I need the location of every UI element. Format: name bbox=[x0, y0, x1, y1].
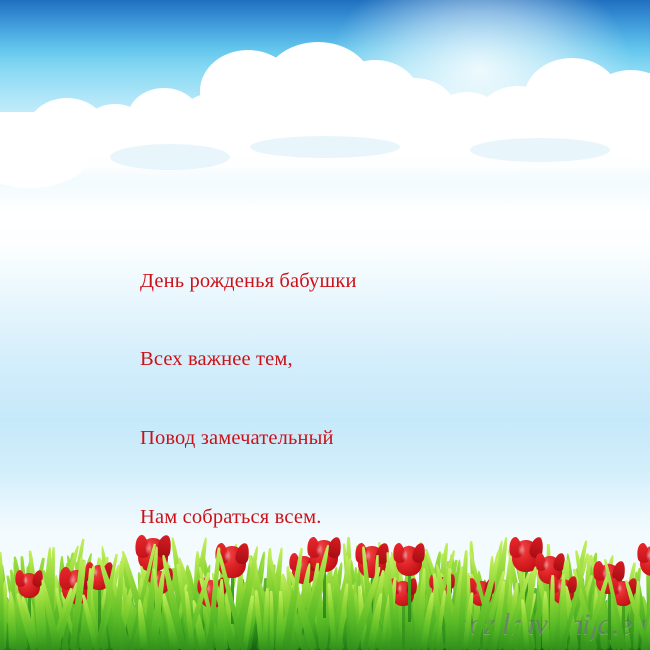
greeting-card: День рожденья бабушки Всех важнее тем, П… bbox=[0, 0, 650, 650]
poem-line: День рожденья бабушки bbox=[140, 268, 560, 294]
cloud-band bbox=[0, 40, 650, 170]
poem-line: Нам собраться всем. bbox=[140, 504, 560, 530]
tulip-flower bbox=[640, 546, 650, 576]
tulip-highlight bbox=[224, 550, 231, 562]
tulip-stem bbox=[402, 600, 405, 650]
tulip-stem bbox=[408, 570, 411, 622]
poem-line: Всех важнее тем, bbox=[140, 346, 560, 372]
tulip-highlight bbox=[646, 550, 650, 561]
tulip-highlight bbox=[518, 544, 525, 556]
cloud-haze bbox=[470, 138, 610, 162]
tulip-flower bbox=[18, 573, 40, 598]
cloud-haze bbox=[250, 136, 400, 158]
poem-line: Повод замечательный bbox=[140, 425, 560, 451]
tulip-highlight bbox=[402, 550, 408, 561]
poem-stanza: День рожденья бабушки Всех важнее тем, П… bbox=[140, 215, 560, 582]
grass-blade bbox=[549, 575, 555, 650]
tulip-flower bbox=[396, 546, 422, 576]
tulip-highlight bbox=[316, 544, 323, 556]
grass-field bbox=[0, 532, 650, 650]
